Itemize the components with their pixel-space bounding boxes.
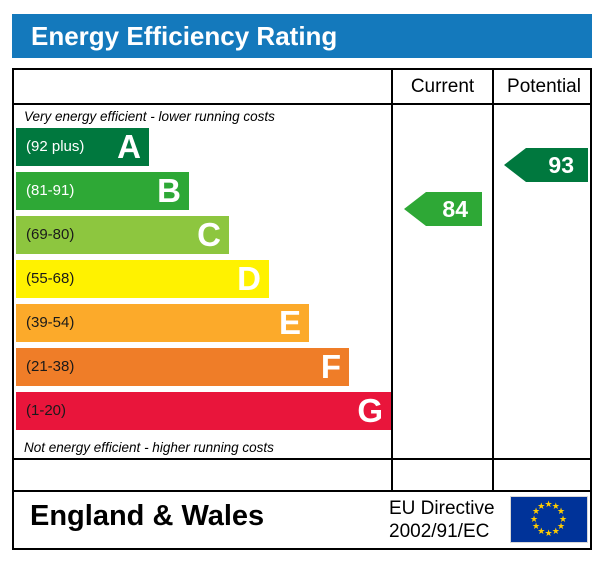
band-e: (39-54) E (16, 304, 309, 342)
band-c: (69-80) C (16, 216, 229, 254)
band-g: (1-20) G (16, 392, 391, 430)
epc-certificate: Energy Efficiency Rating Current Potenti… (0, 0, 603, 564)
band-f-range: (21-38) (26, 348, 74, 386)
band-g-letter: G (357, 392, 383, 430)
header-divider (14, 103, 590, 105)
column-header-potential: Potential (494, 74, 594, 100)
band-c-letter: C (197, 216, 221, 254)
potential-rating-marker: 93 (504, 148, 588, 182)
eu-directive-label: EU Directive 2002/91/EC (389, 497, 495, 543)
band-b-letter: B (157, 172, 181, 210)
page-title: Energy Efficiency Rating (31, 21, 337, 52)
band-d: (55-68) D (16, 260, 269, 298)
eu-directive-line2: 2002/91/EC (389, 521, 489, 542)
current-rating-marker: 84 (404, 192, 482, 226)
footer-bar: England & Wales EU Directive 2002/91/EC (12, 492, 592, 550)
band-d-range: (55-68) (26, 260, 74, 298)
column-header-current: Current (393, 74, 492, 100)
band-f: (21-38) F (16, 348, 349, 386)
column-divider-potential (492, 70, 494, 490)
footer-divider (14, 458, 590, 460)
band-b-range: (81-91) (26, 172, 74, 210)
band-list: (92 plus) A (81-91) B (69-80) C (55-68) … (16, 128, 391, 438)
band-d-letter: D (237, 260, 261, 298)
title-bar: Energy Efficiency Rating (12, 14, 592, 58)
band-a-letter: A (117, 128, 141, 166)
band-e-letter: E (279, 304, 301, 342)
band-a-range: (92 plus) (26, 128, 84, 166)
band-e-range: (39-54) (26, 304, 74, 342)
band-f-letter: F (321, 348, 341, 386)
column-divider-current (391, 70, 393, 490)
region-label: England & Wales (30, 500, 264, 533)
eu-directive-line1: EU Directive (389, 498, 495, 519)
caption-not-efficient: Not energy efficient - higher running co… (24, 440, 274, 455)
band-b: (81-91) B (16, 172, 189, 210)
band-a: (92 plus) A (16, 128, 149, 166)
rating-table: Current Potential Very energy efficient … (12, 68, 592, 492)
band-g-range: (1-20) (26, 392, 66, 430)
band-c-range: (69-80) (26, 216, 74, 254)
caption-very-efficient: Very energy efficient - lower running co… (24, 109, 275, 124)
eu-flag-icon (510, 496, 588, 543)
